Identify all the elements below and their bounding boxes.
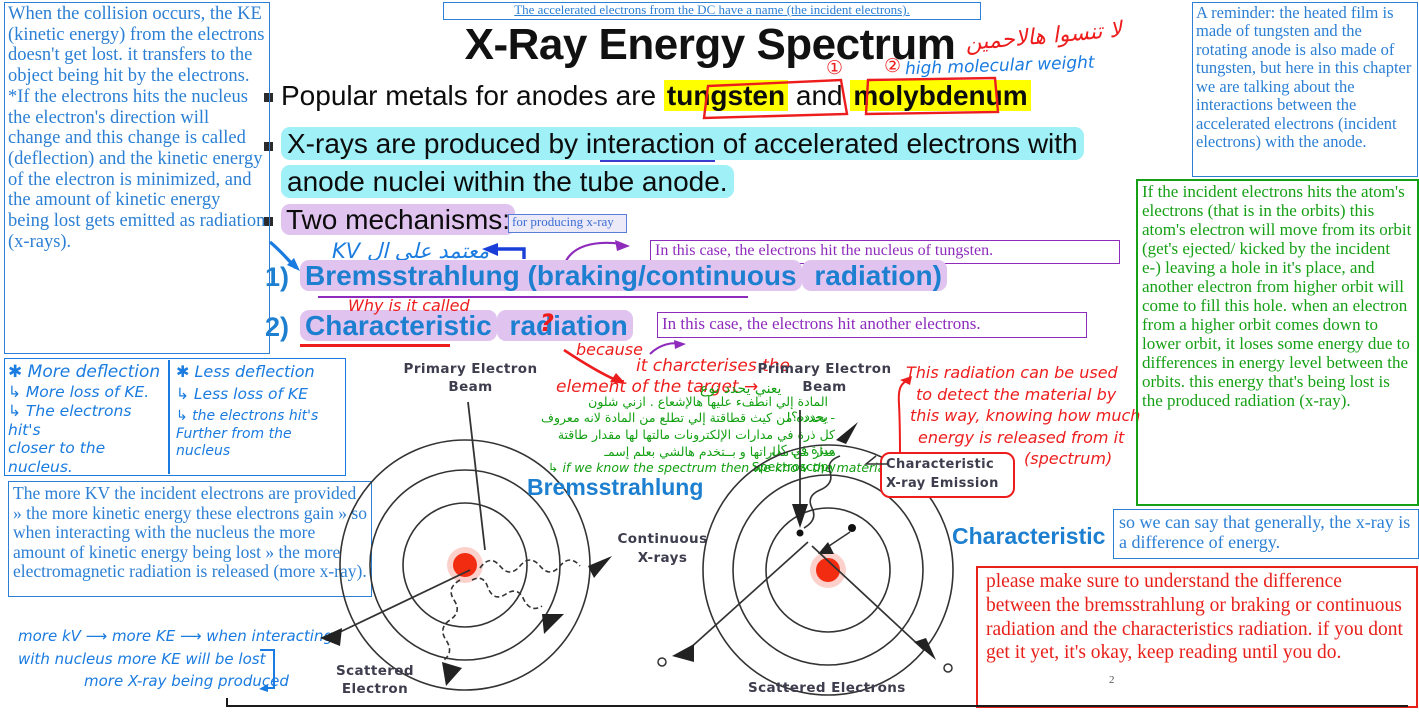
scattered-electron-left-l2: Electron bbox=[320, 680, 430, 698]
bullet-1-pre: Popular metals for anodes are bbox=[281, 80, 664, 111]
underline-mechanism-2 bbox=[300, 344, 450, 347]
note-case-electrons-text: In this case, the electrons hit another … bbox=[662, 314, 981, 333]
bullet-2-line-1-text: X-rays are produced by interaction of ac… bbox=[281, 127, 1084, 160]
summary-l1: more kV ⟶ more KE ⟶ when interacting bbox=[18, 625, 358, 648]
note-right-green: If the incident electrons hits the atom'… bbox=[1136, 179, 1419, 506]
slide-number: 2 bbox=[1109, 674, 1115, 686]
mechanism-1-label-b: radiation) bbox=[802, 260, 947, 291]
bullet-2-line-2: anode nuclei within the tube anode. bbox=[281, 166, 734, 198]
footer-rule-tick bbox=[226, 698, 228, 707]
more-deflection-l2: ↳ More loss of KE. bbox=[8, 383, 166, 402]
bullet-3-text: Two mechanisms: bbox=[281, 204, 515, 235]
note-top-center: The accelerated electrons from the DC ha… bbox=[443, 2, 981, 20]
scattered-electron-left-l1: Scattered bbox=[320, 662, 430, 680]
mechanism-1-label: Bremsstrahlung (braking/continuous radia… bbox=[300, 260, 947, 292]
mechanism-2-label-b: radiation bbox=[497, 310, 633, 341]
deflection-divider bbox=[168, 360, 170, 474]
right-beam-label-l1: Primary Electron bbox=[742, 360, 907, 378]
handwriting-why-is-it-called: Why is it called bbox=[348, 297, 470, 315]
red-circle-annotations bbox=[700, 74, 1120, 122]
left-beam-label-l2: Beam bbox=[388, 378, 553, 396]
left-beam-label-l1: Primary Electron bbox=[388, 360, 553, 378]
left-beam-label: Primary Electron Beam bbox=[388, 360, 553, 396]
summary-bracket bbox=[258, 648, 282, 692]
handwriting-question-mark: ? bbox=[540, 310, 554, 338]
summary-l3: more X-ray being produced bbox=[84, 670, 358, 693]
more-deflection-note: ✱ More deflection ↳ More loss of KE. ↳ T… bbox=[8, 362, 166, 477]
note-for-producing-xray: for producing x-ray bbox=[508, 214, 627, 233]
bullet-2-line-1: X-rays are produced by interaction of ac… bbox=[281, 128, 1084, 160]
note-case-nucleus-text: In this case, the electrons hit the nucl… bbox=[655, 242, 993, 259]
characteristic-emission-label: Characteristic X-ray Emission bbox=[886, 456, 1010, 494]
scattered-electron-label-left: Scattered Electron bbox=[320, 662, 430, 698]
section-characteristic: Characteristic bbox=[952, 523, 1105, 550]
note-for-producing-xray-text: for producing x-ray bbox=[512, 214, 614, 229]
bullet-3: Two mechanisms: bbox=[281, 204, 515, 236]
mechanism-1-label-a: Bremsstrahlung (braking/continuous bbox=[300, 260, 802, 291]
less-deflection-note: ✱ Less deflection ↳ Less loss of KE ↳ th… bbox=[176, 362, 344, 460]
callout-leader-line bbox=[852, 440, 892, 480]
less-deflection-l1: ✱ Less deflection bbox=[176, 362, 344, 382]
underline-interaction bbox=[600, 160, 715, 162]
more-deflection-l4: closer to the nucleus. bbox=[8, 439, 166, 477]
note-right-top: A reminder: the heated film is made of t… bbox=[1192, 2, 1418, 177]
characteristic-emission-l2: X-ray Emission bbox=[886, 475, 1010, 494]
note-left-top: When the collision occurs, the KE (kinet… bbox=[4, 2, 270, 354]
section-bremsstrahlung: Bremsstrahlung bbox=[527, 474, 703, 501]
right-beam-label: Primary Electron Beam bbox=[742, 360, 907, 396]
note-right-blue-small: so we can say that generally, the x-ray … bbox=[1113, 509, 1419, 559]
handwriting-arabic-title: لا تنسوا هالاحمين bbox=[964, 13, 1175, 57]
bullet-2-line-2-text: anode nuclei within the tube anode. bbox=[281, 165, 734, 198]
summary-l2: with nucleus more KE will be lost bbox=[18, 648, 358, 671]
more-deflection-l1: ✱ More deflection bbox=[8, 362, 166, 383]
summary-handwriting: more kV ⟶ more KE ⟶ when interacting wit… bbox=[18, 625, 358, 693]
scattered-electrons-label-right: Scattered Electrons bbox=[748, 680, 908, 696]
footer-rule bbox=[226, 705, 1408, 707]
less-deflection-l2: ↳ Less loss of KE bbox=[176, 385, 344, 404]
note-left-kv: The more KV the incident electrons are p… bbox=[8, 481, 372, 597]
handwriting-detect-material-l1: This radiation can be used bbox=[906, 362, 1140, 384]
characteristic-emission-l1: Characteristic bbox=[886, 456, 1010, 475]
less-deflection-l3: ↳ the electrons hit's bbox=[176, 408, 344, 425]
right-beam-label-l2: Beam bbox=[742, 378, 907, 396]
less-deflection-l4: Further from the nucleus bbox=[176, 426, 344, 460]
more-deflection-l3: ↳ The electrons hit's bbox=[8, 402, 166, 440]
note-case-electrons: In this case, the electrons hit another … bbox=[657, 312, 1087, 338]
note-top-center-text: The accelerated electrons from the DC ha… bbox=[514, 2, 910, 17]
